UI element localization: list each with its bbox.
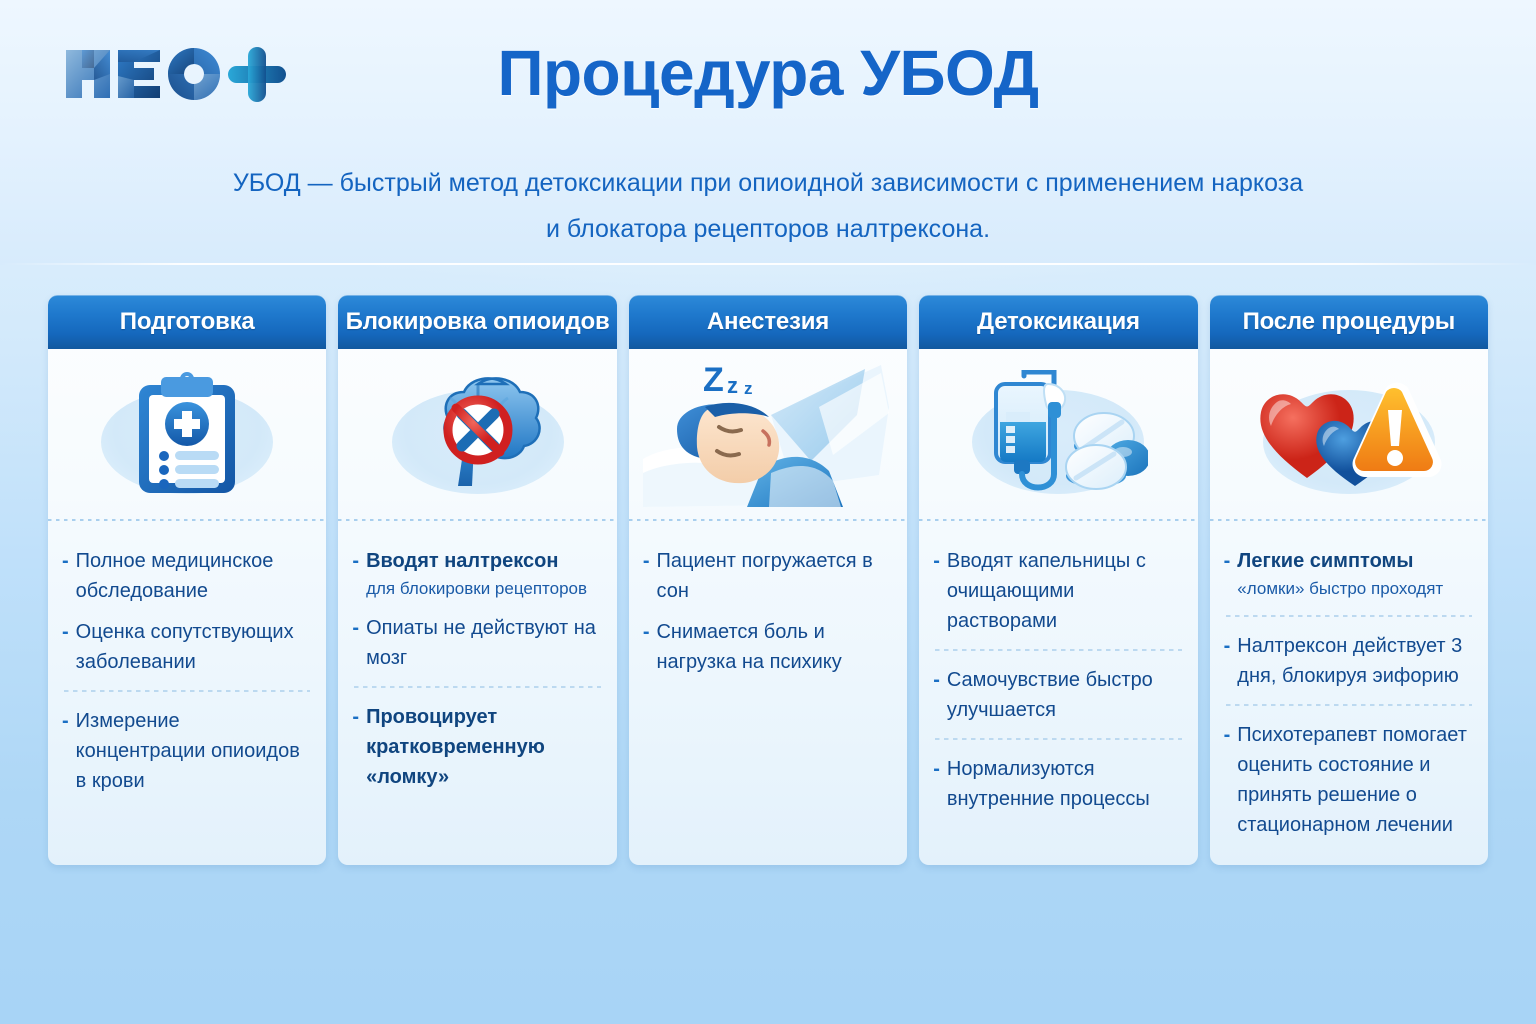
icon-zone-opioid-blocking [338,349,616,521]
list-item-subtext: «ломки» быстро проходят [1237,576,1474,602]
list-item-bold: Вводят налтрексон [366,550,558,572]
list-item-text: Полное медицинское обследование [76,546,313,606]
list-item: - Пациент погружается в сон [643,541,893,612]
items-anesthesia: - Пациент погружается в сон - Снимается … [629,521,907,865]
list-item: - Измерение концентрации опиоидов в кров… [62,701,312,802]
bullet-dash: - [352,702,359,792]
card-title-anesthesia: Анестезия [707,308,829,336]
bullet-dash: - [352,613,359,673]
stage-card-after-procedure[interactable]: После процедуры [1210,295,1488,865]
card-header-after-procedure: После процедуры [1210,295,1488,349]
card-title-preparation: Подготовка [120,308,255,336]
item-separator [1226,704,1472,706]
list-item: - Вводят капельницы с очищающими раствор… [933,541,1183,642]
brain-blocked-icon [398,372,558,498]
list-item: - Снимается боль и нагрузка на психику [643,612,893,683]
subtitle-line-1: УБОД — быстрый метод детоксикации при оп… [158,160,1378,206]
list-item-subtext: для блокировки рецепторов [366,576,603,602]
stage-card-opioid-blocking[interactable]: Блокировка опиоидов [338,295,616,865]
card-title-detoxification: Детоксикация [977,308,1140,336]
icon-zone-anesthesia: Z z z [629,349,907,521]
item-separator [935,738,1181,740]
svg-text:z: z [744,379,753,398]
items-preparation: - Полное медицинское обследование - Оцен… [48,521,326,865]
item-separator [1226,615,1472,617]
list-item-text: Оценка сопутствующих заболевании [76,617,313,677]
bullet-dash: - [643,546,650,606]
item-separator [354,686,600,688]
iv-drip-pills-icon [968,370,1148,500]
list-item-text: Психотерапевт помогает оценить состояние… [1237,720,1474,840]
list-item-text: Провоцирует кратковременную «ломку» [366,702,603,792]
list-item-text: Налтрексон действует 3 дня, блокируя эиф… [1237,631,1474,691]
stage-cards-row: Подготовка [48,295,1488,865]
list-item: - Налтрексон действует 3 дня, блокируя э… [1224,626,1474,697]
list-item: - Самочувствие быстро улучшается [933,660,1183,731]
items-opioid-blocking: - Вводят налтрексондля блокировки рецепт… [338,521,616,865]
list-item: - Оценка сопутствующих заболевании [62,612,312,683]
list-item: - Легкие симптомы«ломки» быстро проходят [1224,541,1474,608]
item-separator [935,649,1181,651]
card-header-anesthesia: Анестезия [629,295,907,349]
bullet-dash: - [62,706,69,796]
icon-zone-detoxification [919,349,1197,521]
subtitle-line-2: и блокатора рецепторов налтрексона. [158,206,1378,252]
zzz-text: Z [703,361,724,399]
page-subtitle: УБОД — быстрый метод детоксикации при оп… [158,160,1378,252]
list-item: - Провоцирует кратковременную «ломку» [352,697,602,798]
list-item-text: Вводят капельницы с очищающими растворам… [947,546,1184,636]
list-item-text: Пациент погружается в сон [656,546,893,606]
list-item-text: Нормализуются внутренние процессы [947,754,1184,814]
list-item: - Полное медицинское обследование [62,541,312,612]
item-separator [64,690,310,692]
card-title-after-procedure: После процедуры [1243,308,1456,336]
hearts-warning-icon [1251,374,1447,496]
list-item: - Нормализуются внутренние процессы [933,749,1183,820]
bullet-dash: - [933,546,940,636]
list-item-text: Легкие симптомы«ломки» быстро проходят [1237,546,1474,602]
bullet-dash: - [62,617,69,677]
bullet-dash: - [62,546,69,606]
svg-text:z: z [727,373,738,398]
bullet-dash: - [933,665,940,725]
list-item-text: Измерение концентрации опиоидов в крови [76,706,313,796]
bullet-dash: - [933,754,940,814]
card-title-opioid-blocking: Блокировка опиоидов [346,308,610,336]
bullet-dash: - [1224,546,1231,602]
items-after-procedure: - Легкие симптомы«ломки» быстро проходят… [1210,521,1488,865]
stage-card-anesthesia[interactable]: Анестезия [629,295,907,865]
bullet-dash: - [1224,720,1231,840]
items-detoxification: - Вводят капельницы с очищающими раствор… [919,521,1197,865]
list-item: - Психотерапевт помогает оценить состоян… [1224,715,1474,846]
stage-card-preparation[interactable]: Подготовка [48,295,326,865]
card-header-detoxification: Детоксикация [919,295,1197,349]
list-item-text: Самочувствие быстро улучшается [947,665,1184,725]
clipboard-medical-icon [131,371,243,499]
list-item: - Вводят налтрексондля блокировки рецепт… [352,541,602,608]
bullet-dash: - [1224,631,1231,691]
list-item-bold: Провоцирует кратковременную «ломку» [366,706,545,788]
card-header-preparation: Подготовка [48,295,326,349]
list-item-text: Снимается боль и нагрузка на психику [656,617,893,677]
sleeping-patient-icon: Z z z [643,355,893,515]
list-item-text: Вводят налтрексондля блокировки рецептор… [366,546,603,602]
icon-zone-after-procedure [1210,349,1488,521]
list-item: - Опиаты не действуют на мозг [352,608,602,679]
bullet-dash: - [643,617,650,677]
card-header-opioid-blocking: Блокировка опиоидов [338,295,616,349]
list-item-text: Опиаты не действуют на мозг [366,613,603,673]
infographic-page: Процедура УБОД УБОД — быстрый метод дето… [0,0,1536,1024]
bullet-dash: - [352,546,359,602]
page-title: Процедура УБОД [0,36,1536,110]
icon-zone-preparation [48,349,326,521]
list-item-bold: Легкие симптомы [1237,550,1413,572]
stage-card-detoxification[interactable]: Детоксикация [919,295,1197,865]
